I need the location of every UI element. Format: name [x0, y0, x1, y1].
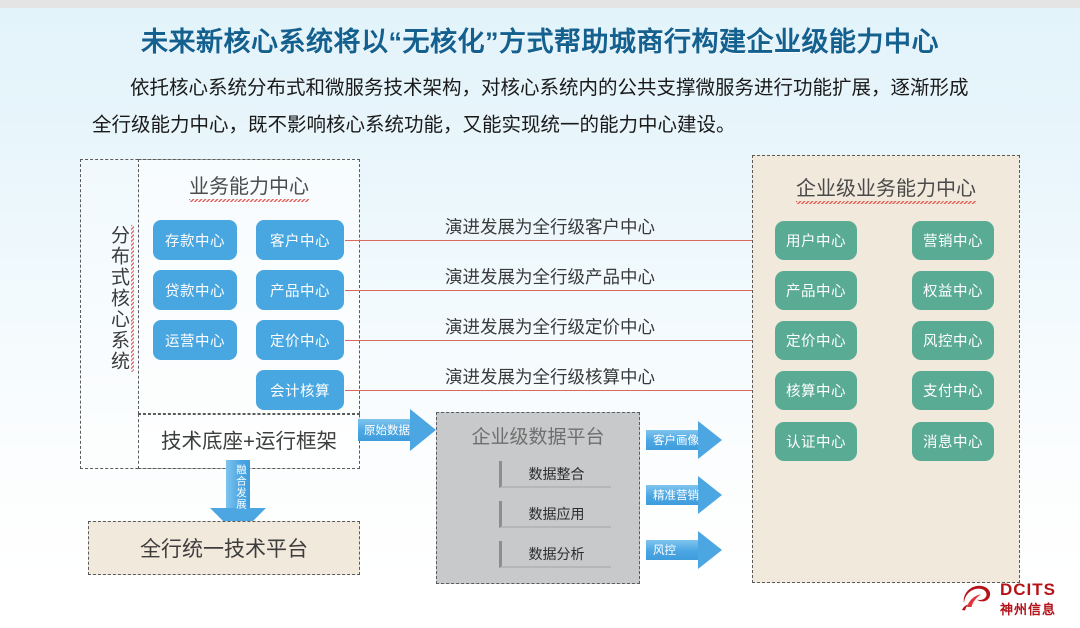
enterprise-capability-center-title: 企业级业务能力中心: [753, 172, 1019, 201]
chip-ent-accounting-center[interactable]: 核算中心: [775, 371, 857, 410]
data-platform-item-application[interactable]: 数据应用: [499, 501, 611, 528]
output-arrow-label-3: 风控: [653, 542, 676, 558]
arrow-head: [698, 421, 722, 459]
chip-accounting-center[interactable]: 会计核算: [256, 370, 344, 410]
output-arrow-precision-marketing: 精准营销: [646, 476, 730, 514]
enterprise-capability-center-panel: 企业级业务能力中心: [752, 155, 1020, 583]
evolution-line-2: [345, 290, 763, 291]
unified-tech-platform-box[interactable]: 全行统一技术平台: [88, 521, 360, 575]
chip-customer-center[interactable]: 客户中心: [256, 220, 344, 260]
down-arrow-label: 融合发展: [227, 464, 249, 510]
chip-risk-center[interactable]: 风控中心: [912, 321, 994, 360]
logo-text-en: DCITS: [1000, 580, 1056, 600]
unified-tech-platform-label: 全行统一技术平台: [140, 533, 308, 563]
chip-operation-center[interactable]: 运营中心: [153, 320, 237, 360]
chip-rights-center[interactable]: 权益中心: [912, 271, 994, 310]
enterprise-data-platform-title: 企业级数据平台: [437, 422, 639, 449]
evolution-line-1: [345, 240, 763, 241]
chip-auth-center[interactable]: 认证中心: [775, 422, 857, 461]
subtitle-line-2: 全行级能力中心，既不影响核心系统功能，又能实现统一的能力中心建设。: [92, 107, 1012, 144]
evolution-line-4: [345, 390, 763, 391]
page-subtitle: 依托核心系统分布式和微服务技术架构，对核心系统内的公共支撑微服务进行功能扩展，逐…: [92, 70, 1012, 144]
logo-text-cn: 神州信息: [1000, 599, 1056, 618]
dcits-logo: DCITS 神州信息: [960, 578, 1072, 622]
output-arrow-label-2: 精准营销: [653, 487, 699, 503]
evolution-label-4: 演进发展为全行级核算中心: [430, 364, 670, 389]
chip-deposit-center[interactable]: 存款中心: [153, 220, 237, 260]
output-arrow-label-1: 客户画像: [653, 432, 699, 448]
chip-marketing-center[interactable]: 营销中心: [912, 221, 994, 260]
chip-ent-pricing-center[interactable]: 定价中心: [775, 321, 857, 360]
arrow-head: [698, 531, 722, 569]
arrow-head: [698, 476, 722, 514]
top-bar: [0, 0, 1080, 8]
slide-canvas: 未来新核心系统将以“无核化”方式帮助城商行构建企业级能力中心 依托核心系统分布式…: [0, 0, 1080, 628]
chip-user-center[interactable]: 用户中心: [775, 221, 857, 260]
page-title: 未来新核心系统将以“无核化”方式帮助城商行构建企业级能力中心: [0, 20, 1080, 59]
raw-data-arrow: 原始数据: [358, 409, 442, 451]
evolution-label-3: 演进发展为全行级定价中心: [430, 314, 670, 339]
output-arrow-risk-control: 风控: [646, 531, 730, 569]
chip-loan-center[interactable]: 贷款中心: [153, 270, 237, 310]
chip-pricing-center[interactable]: 定价中心: [256, 320, 344, 360]
chip-product-center[interactable]: 产品中心: [256, 270, 344, 310]
tech-base-label: 技术底座+运行框架: [138, 424, 360, 454]
raw-data-arrow-label: 原始数据: [364, 422, 410, 438]
chip-ent-product-center[interactable]: 产品中心: [775, 271, 857, 310]
evolution-line-3: [345, 340, 763, 341]
distributed-core-system-label: 分布式核心系统: [92, 225, 132, 372]
chip-payment-center[interactable]: 支付中心: [912, 371, 994, 410]
chip-message-center[interactable]: 消息中心: [912, 422, 994, 461]
output-arrow-customer-profile: 客户画像: [646, 421, 730, 459]
dcits-swirl-icon: [960, 581, 994, 613]
subtitle-line-1: 依托核心系统分布式和微服务技术架构，对核心系统内的公共支撑微服务进行功能扩展，逐…: [130, 77, 969, 99]
business-capability-center-title: 业务能力中心: [139, 170, 359, 199]
evolution-label-1: 演进发展为全行级客户中心: [430, 214, 670, 239]
arrow-head: [410, 409, 436, 451]
evolution-label-2: 演进发展为全行级产品中心: [430, 264, 670, 289]
data-platform-item-analysis[interactable]: 数据分析: [499, 541, 611, 568]
data-platform-item-integration[interactable]: 数据整合: [499, 461, 611, 488]
enterprise-data-platform-panel: 企业级数据平台 数据整合 数据应用 数据分析: [436, 412, 640, 584]
